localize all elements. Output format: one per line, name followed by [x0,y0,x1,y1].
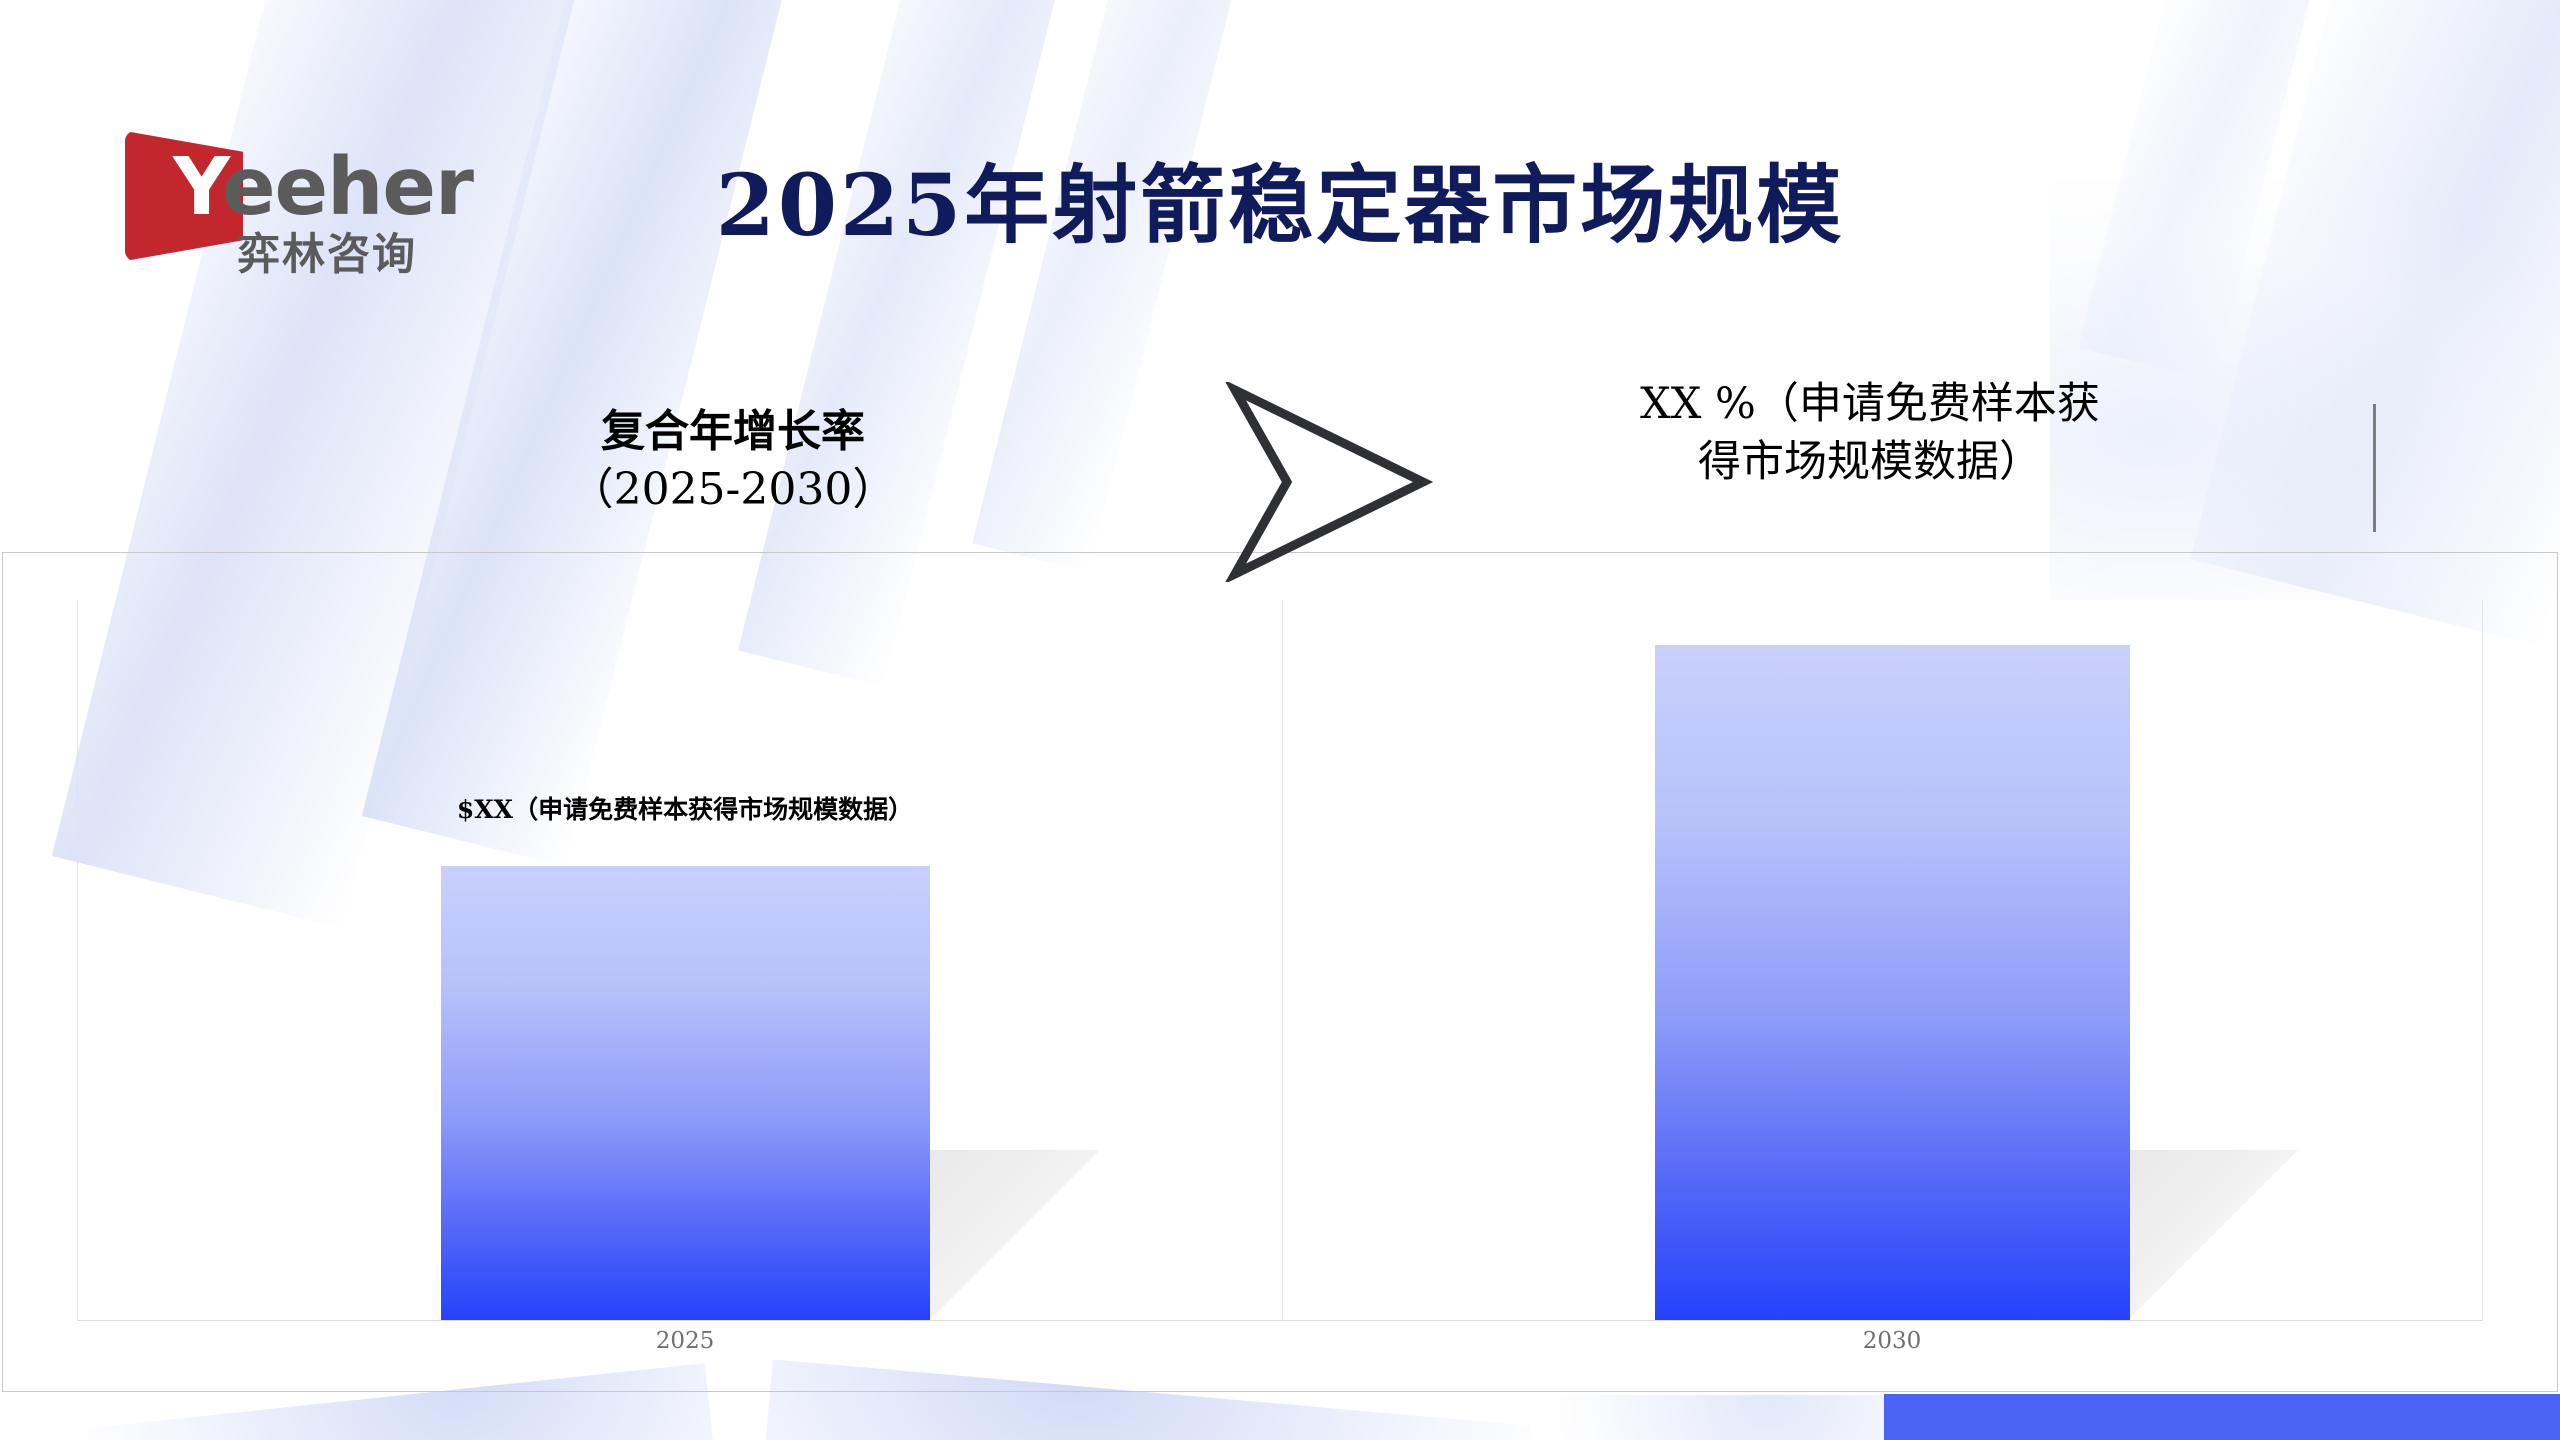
vertical-divider [2373,404,2376,532]
logo-wordmark-rest: eeher [222,141,473,233]
cagr-period: （2025-2030） [548,461,918,519]
cagr-value-text: XX %（申请免费样本获得市场规模数据） [1620,375,2120,491]
bar-2025[interactable] [441,866,930,1320]
bg-blob [2050,180,2560,600]
logo-wordmark: Yeeher [173,148,473,227]
x-axis-tick-2025: 2025 [585,1328,785,1354]
arrow-right-chevron-icon [1225,382,1435,582]
bar-value-label-2025: $XX（申请免费样本获得市场规模数据） [445,793,925,827]
page-title: 2025年射箭稳定器市场规模 [680,160,1880,254]
bottom-accent-band [1884,1394,2560,1440]
x-axis-tick-2030: 2030 [1792,1328,1992,1354]
chart-baseline-axis [77,1320,2483,1321]
cagr-label: 复合年增长率 [548,403,918,461]
logo-chinese-name: 弈林咨询 [237,234,417,277]
chart-category-separator [1282,600,1283,1320]
bar-fill [1655,645,2130,1320]
brand-logo: Yeeher 弈林咨询 [125,122,470,297]
logo-wordmark-initial: Y [173,141,222,233]
bar-fill [441,866,930,1320]
cagr-label-block: 复合年增长率 （2025-2030） [548,403,918,519]
bar-2030[interactable] [1655,645,2130,1320]
